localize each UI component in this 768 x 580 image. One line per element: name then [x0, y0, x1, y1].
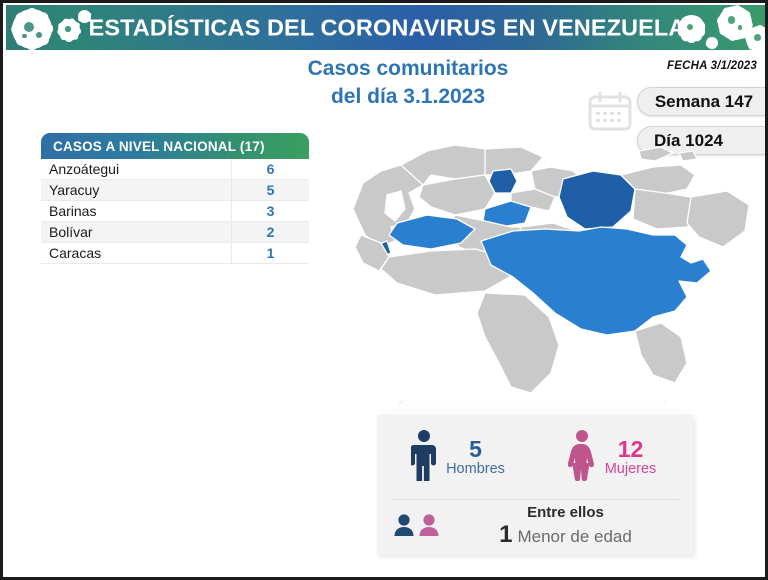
state-name: Caracas	[41, 245, 231, 261]
calendar-icon	[588, 91, 632, 131]
women-text: 12 Mujeres	[605, 437, 657, 477]
female-bust-icon	[418, 513, 440, 542]
minor-text: Entre ellos 1 Menor de edad	[454, 505, 677, 549]
gender-summary-panel: 5 Hombres 12 Mujeres	[377, 415, 693, 555]
subtitle: Casos comunitarios del día 3.1.2023	[253, 55, 563, 110]
state-name: Yaracuy	[41, 182, 231, 198]
male-figure-icon	[411, 429, 437, 486]
women-stat: 12 Mujeres	[535, 429, 689, 486]
header-banner: ESTADÍSTICAS DEL CORONAVIRUS EN VENEZUEL…	[6, 5, 768, 50]
men-count: 5	[446, 437, 505, 461]
table-header: CASOS A NIVEL NACIONAL (17)	[41, 133, 309, 159]
bust-icons	[393, 513, 440, 542]
men-stat: 5 Hombres	[381, 429, 535, 486]
minor-label: Menor de edad	[517, 527, 631, 546]
minor-stat-row: Entre ellos 1 Menor de edad	[377, 500, 693, 554]
entre-ellos-label: Entre ellos	[454, 505, 677, 522]
gender-counts-row: 5 Hombres 12 Mujeres	[377, 415, 693, 499]
state-cases: 6	[231, 159, 309, 180]
infographic-page: ESTADÍSTICAS DEL CORONAVIRUS EN VENEZUEL…	[0, 0, 768, 580]
state-cases: 5	[231, 180, 309, 201]
table-row[interactable]: Anzoátegui 6	[41, 159, 309, 180]
female-figure-icon	[568, 429, 596, 486]
table-row[interactable]: Caracas 1	[41, 243, 309, 264]
panel-lid	[375, 398, 695, 416]
state-name: Barinas	[41, 203, 231, 219]
table-row[interactable]: Yaracuy 5	[41, 180, 309, 201]
semana-badge[interactable]: Semana 147	[637, 87, 768, 116]
minor-count-line: 1 Menor de edad	[454, 522, 677, 549]
male-bust-icon	[393, 513, 415, 542]
men-label: Hombres	[446, 462, 505, 477]
state-name: Bolívar	[41, 224, 231, 240]
minor-count: 1	[499, 522, 512, 549]
venezuela-states-map	[335, 131, 768, 416]
women-label: Mujeres	[605, 462, 657, 477]
state-cases: 2	[231, 222, 309, 243]
state-name: Anzoátegui	[41, 161, 231, 177]
men-text: 5 Hombres	[446, 437, 505, 477]
table-row[interactable]: Barinas 3	[41, 201, 309, 222]
national-cases-table: CASOS A NIVEL NACIONAL (17) Anzoátegui 6…	[41, 133, 309, 264]
women-count: 12	[605, 437, 657, 461]
state-cases: 3	[231, 201, 309, 222]
semana-badge-label: Semana 147	[655, 92, 753, 112]
subtitle-line-1: Casos comunitarios	[253, 55, 563, 83]
subtitle-line-2: del día 3.1.2023	[253, 83, 563, 111]
fecha-label: FECHA 3/1/2023	[667, 60, 757, 72]
table-row[interactable]: Bolívar 2	[41, 222, 309, 243]
state-cases: 1	[231, 243, 309, 264]
page-title: ESTADÍSTICAS DEL CORONAVIRUS EN VENEZUEL…	[6, 14, 768, 41]
